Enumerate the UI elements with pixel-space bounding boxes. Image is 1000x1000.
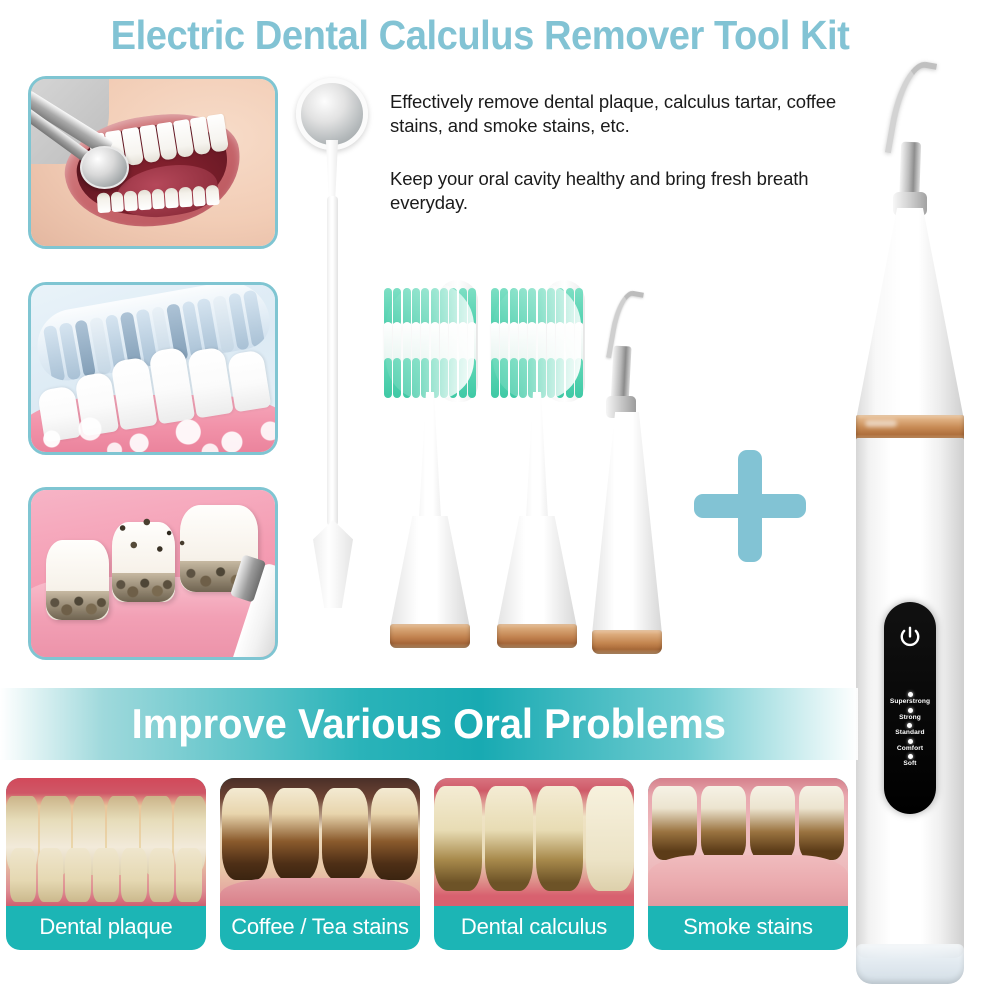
coffee-tea-stains-photo xyxy=(220,778,420,906)
problem-card-list: Dental plaque Coffee / Tea stains Dental… xyxy=(0,778,858,950)
rose-gold-ring xyxy=(390,624,470,648)
mirror-pick-tip xyxy=(313,520,353,608)
problem-card-coffee-tea-stains: Coffee / Tea stains xyxy=(220,778,420,950)
mode-strong: Strong xyxy=(899,708,921,722)
mode-soft: Soft xyxy=(903,754,916,768)
mode-label: Comfort xyxy=(897,745,923,753)
smoke-stains-photo xyxy=(648,778,848,906)
rose-gold-ring xyxy=(592,630,662,654)
mode-label: Strong xyxy=(899,714,921,722)
feature-thumb-calculus-removal xyxy=(28,487,278,660)
card-caption: Smoke stains xyxy=(648,906,848,950)
problem-card-dental-plaque: Dental plaque xyxy=(6,778,206,950)
brush-bristles xyxy=(487,288,587,398)
mirror-neck xyxy=(324,140,340,200)
device-control-panel[interactable]: Superstrong Strong Standard Comfort Soft xyxy=(884,602,936,814)
card-caption: Dental calculus xyxy=(434,906,634,950)
mode-comfort: Comfort xyxy=(897,739,923,753)
led-indicator xyxy=(908,708,913,713)
device-base xyxy=(856,944,964,984)
led-indicator xyxy=(907,723,912,728)
dental-mirror-in-photo xyxy=(80,146,129,189)
description-block: Effectively remove dental plaque, calcul… xyxy=(390,90,850,215)
section-banner: Improve Various Oral Problems xyxy=(0,688,858,760)
card-caption: Coffee / Tea stains xyxy=(220,906,420,950)
led-indicator xyxy=(908,692,913,697)
description-paragraph-2: Keep your oral cavity healthy and bring … xyxy=(390,167,850,214)
mode-label: Soft xyxy=(903,760,916,768)
card-caption: Dental plaque xyxy=(6,906,206,950)
page-title: Electric Dental Calculus Remover Tool Ki… xyxy=(34,12,927,59)
feature-thumb-brushing xyxy=(28,282,278,455)
problem-card-dental-calculus: Dental calculus xyxy=(434,778,634,950)
mirror-head-icon xyxy=(296,78,368,150)
mode-label: Standard xyxy=(895,729,924,737)
power-icon[interactable] xyxy=(897,624,923,650)
feature-thumb-dental-exam xyxy=(28,76,278,249)
mode-label: Superstrong xyxy=(890,698,930,706)
problem-card-smoke-stains: Smoke stains xyxy=(648,778,848,950)
led-indicator xyxy=(908,754,913,759)
led-indicator xyxy=(908,739,913,744)
rose-gold-ring xyxy=(497,624,577,648)
mirror-shaft xyxy=(327,196,338,526)
product-infographic: Electric Dental Calculus Remover Tool Ki… xyxy=(0,0,1000,1000)
mode-indicator-list: Superstrong Strong Standard Comfort Soft xyxy=(884,692,936,768)
mode-superstrong: Superstrong xyxy=(890,692,930,706)
plus-icon xyxy=(694,450,806,562)
banner-title: Improve Various Oral Problems xyxy=(132,700,726,748)
dental-calculus-photo xyxy=(434,778,634,906)
mode-standard: Standard xyxy=(895,723,924,737)
dental-plaque-photo xyxy=(6,778,206,906)
description-paragraph-1: Effectively remove dental plaque, calcul… xyxy=(390,90,850,137)
brush-bristles xyxy=(380,288,480,398)
